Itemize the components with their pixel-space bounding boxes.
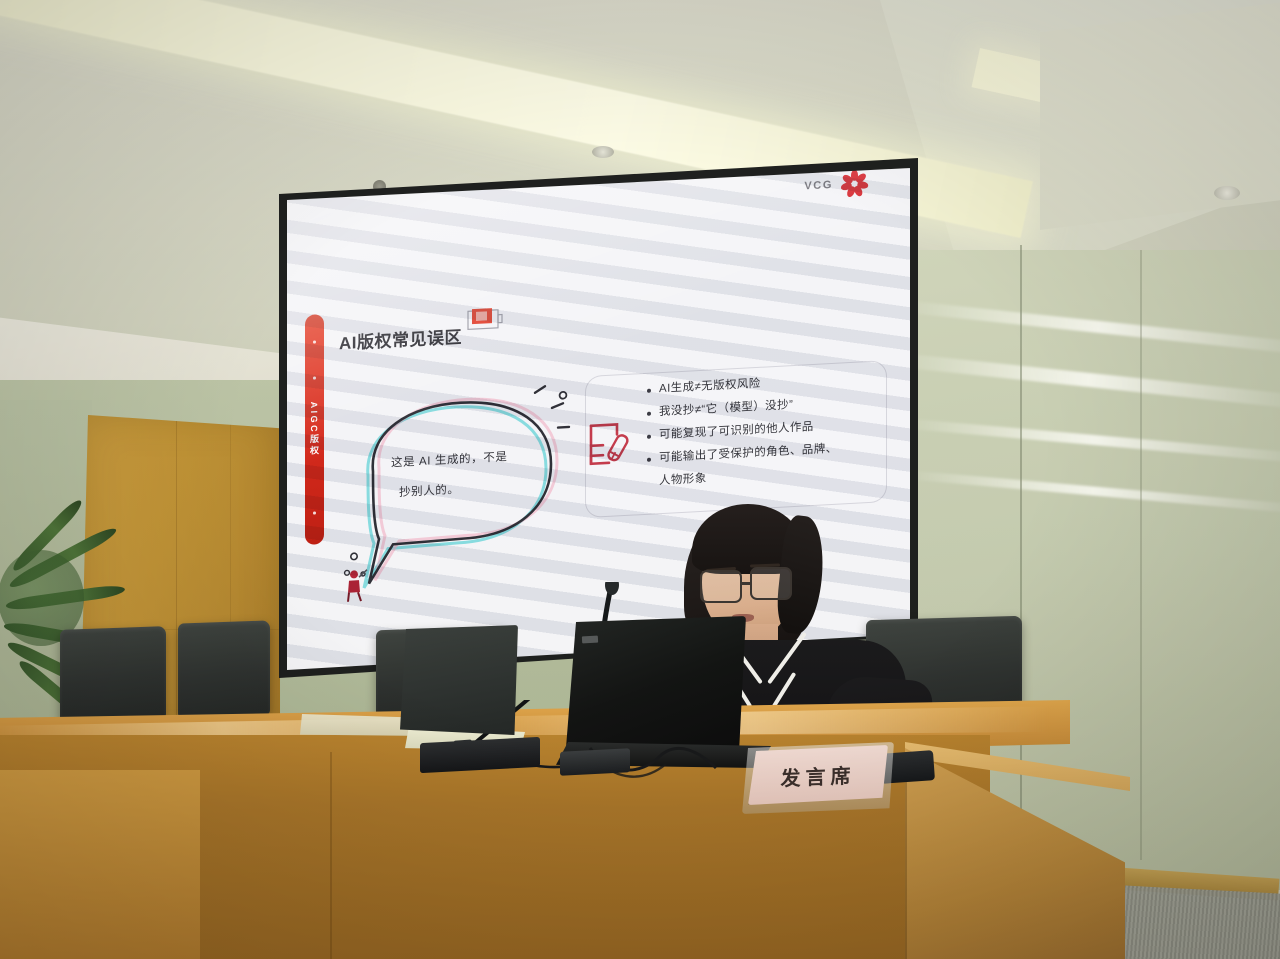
recessed-downlight bbox=[1214, 186, 1240, 200]
bullet-label: 我没抄≠“它（模型）没抄” bbox=[659, 398, 793, 421]
desk-control-unit bbox=[560, 748, 630, 776]
vcg-wordmark: VCG bbox=[804, 179, 833, 193]
partition-mullion bbox=[1140, 250, 1142, 860]
conference-room-photo: AIGC版权 AI版权常见误区 bbox=[0, 0, 1280, 959]
podium-left-block bbox=[0, 770, 200, 959]
bullet-marker bbox=[647, 389, 651, 393]
eyeglasses-lens bbox=[750, 567, 792, 600]
slide-side-banner: AIGC版权 bbox=[305, 314, 324, 545]
ceiling-soffit-right bbox=[1040, 0, 1280, 230]
red-figure-illustration bbox=[343, 568, 369, 603]
speech-bubble-icon: 这是 AI 生成的，不是 抄别人的。 bbox=[339, 382, 579, 605]
desk-seam bbox=[330, 752, 332, 959]
desk-seam bbox=[905, 752, 907, 959]
slide-bullet-list: AI生成≠无版权风险 我没抄≠“它（模型）没抄” 可能复现了可识别的他人作品 可… bbox=[647, 370, 887, 489]
nameplate: 发言席 bbox=[748, 745, 888, 805]
eyeglasses-bridge bbox=[740, 582, 752, 585]
bullet-marker bbox=[647, 458, 651, 462]
document-pencil-icon bbox=[587, 418, 633, 472]
desk-control-unit bbox=[420, 737, 540, 773]
bullet-label: 可能复现了可识别的他人作品 bbox=[659, 420, 814, 444]
sprinkler-head bbox=[592, 146, 614, 158]
nameplate-label: 发言席 bbox=[748, 742, 888, 808]
vcg-petal-logo-icon bbox=[840, 169, 868, 198]
bullet-marker bbox=[647, 435, 651, 439]
eyeglasses-lens bbox=[700, 570, 742, 603]
laptop-logo bbox=[582, 636, 598, 644]
speech-bubble-line-2: 抄别人的。 bbox=[399, 481, 460, 500]
leather-conference-chair bbox=[60, 626, 166, 722]
side-banner-label: AIGC版权 bbox=[308, 401, 321, 457]
secondary-laptop-screen bbox=[400, 625, 518, 735]
bullet-marker bbox=[647, 412, 651, 416]
leather-conference-chair bbox=[178, 620, 270, 717]
vcg-watermark: VCG bbox=[804, 169, 868, 200]
bullet-label: 可能输出了受保护的角色、品牌、 bbox=[659, 442, 838, 467]
battery-icon bbox=[467, 306, 507, 334]
